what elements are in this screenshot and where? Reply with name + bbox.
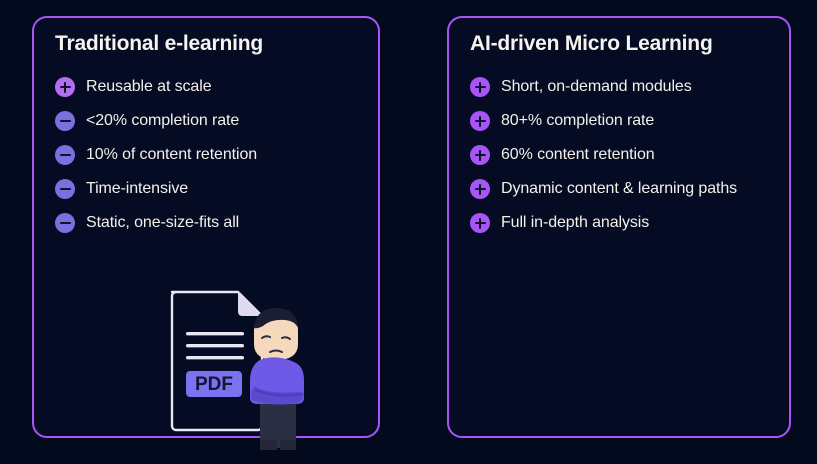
list-item: 80+% completion rate (470, 104, 737, 138)
feature-label: Short, on-demand modules (501, 78, 692, 96)
page-title-ai-driven: AI-driven Micro Learning (470, 32, 713, 56)
pdf-document-illustration: PDF (162, 270, 322, 450)
minus-icon (55, 111, 75, 131)
minus-icon (55, 145, 75, 165)
feature-label: Time-intensive (86, 180, 188, 198)
feature-list-traditional: Reusable at scale <20% completion rate 1… (55, 70, 257, 240)
feature-label: 60% content retention (501, 146, 655, 164)
feature-label: Reusable at scale (86, 78, 212, 96)
minus-icon (55, 179, 75, 199)
plus-icon (470, 145, 490, 165)
feature-label: Static, one-size-fits all (86, 214, 239, 232)
list-item: Short, on-demand modules (470, 70, 737, 104)
feature-list-ai-driven: Short, on-demand modules 80+% completion… (470, 70, 737, 240)
list-item: Dynamic content & learning paths (470, 172, 737, 206)
minus-icon (55, 213, 75, 233)
doc-line (186, 332, 244, 335)
page-title-traditional: Traditional e-learning (55, 32, 263, 56)
list-item: Full in-depth analysis (470, 206, 737, 240)
feature-label: 80+% completion rate (501, 112, 654, 130)
doc-line (186, 344, 244, 347)
list-item: 60% content retention (470, 138, 737, 172)
feature-label: <20% completion rate (86, 112, 239, 130)
plus-icon (55, 77, 75, 97)
feature-label: Full in-depth analysis (501, 214, 649, 232)
plus-icon (470, 213, 490, 233)
pdf-badge-label: PDF (195, 374, 233, 395)
list-item: Time-intensive (55, 172, 257, 206)
comparison-infographic: Traditional e-learning Reusable at scale… (0, 0, 817, 464)
card-traditional-elearning: Traditional e-learning Reusable at scale… (32, 16, 380, 438)
list-item: Static, one-size-fits all (55, 206, 257, 240)
plus-icon (470, 179, 490, 199)
feature-label: Dynamic content & learning paths (501, 180, 737, 198)
card-ai-driven-micro-learning: AI-driven Micro Learning Short, on-deman… (447, 16, 791, 438)
list-item: 10% of content retention (55, 138, 257, 172)
plus-icon (470, 111, 490, 131)
list-item: Reusable at scale (55, 70, 257, 104)
plus-icon (470, 77, 490, 97)
list-item: <20% completion rate (55, 104, 257, 138)
doc-line (186, 356, 244, 359)
feature-label: 10% of content retention (86, 146, 257, 164)
